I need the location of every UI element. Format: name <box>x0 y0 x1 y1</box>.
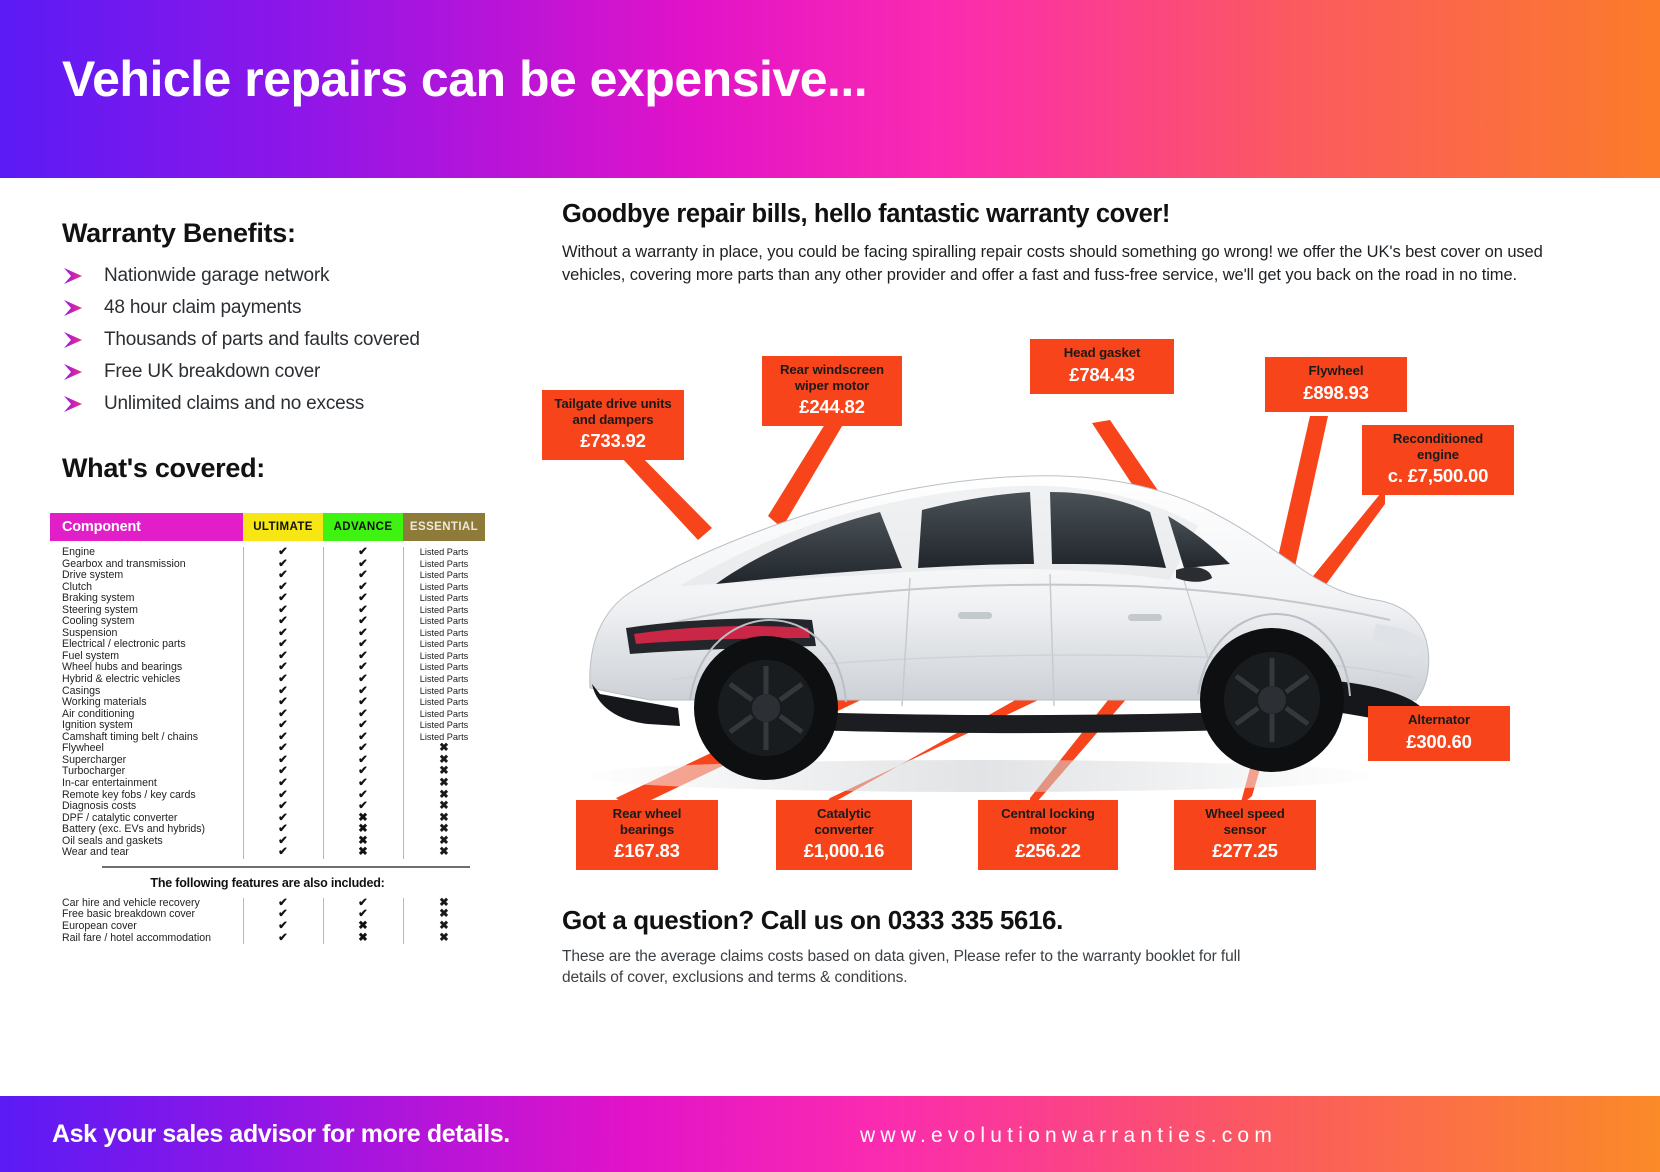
cell-ultimate: ✔ <box>243 921 323 933</box>
callout-label: Wheel speed sensor <box>1184 806 1306 837</box>
table-body: Engine✔✔Listed PartsGearbox and transmis… <box>50 547 485 859</box>
table-body-extras: Car hire and vehicle recovery✔✔✖Free bas… <box>50 898 485 944</box>
callout-label: Tailgate drive units and dampers <box>552 396 674 427</box>
chevron-right-icon <box>62 331 88 349</box>
chevron-right-icon <box>62 299 88 317</box>
cell-component-name: Battery (exc. EVs and hybrids) <box>50 824 243 836</box>
table-subheading: The following features are also included… <box>50 876 485 890</box>
callout-amount: £277.25 <box>1184 839 1306 862</box>
cell-advance: ✔ <box>323 697 403 709</box>
callout-label: Alternator <box>1378 712 1500 728</box>
cell-essential: Listed Parts <box>403 616 485 628</box>
cell-component-name: Hybrid & electric vehicles <box>50 674 243 686</box>
footer-website-url[interactable]: www.evolutionwarranties.com <box>860 1124 1277 1148</box>
callout-amount: c. £7,500.00 <box>1372 464 1504 487</box>
cell-ultimate: ✔ <box>243 824 323 836</box>
page-title: Vehicle repairs can be expensive... <box>62 50 867 108</box>
callout-label: Reconditioned engine <box>1372 431 1504 462</box>
table-row: European cover✔✖✖ <box>50 921 485 933</box>
column-header-advance: ADVANCE <box>323 513 403 541</box>
footer-bar: Ask your sales advisor for more details.… <box>0 1096 1660 1172</box>
benefits-list: Nationwide garage network 48 hour claim … <box>62 260 512 420</box>
table-row: Braking system✔✔Listed Parts <box>50 593 485 605</box>
cell-advance: ✔ <box>323 570 403 582</box>
callout-amount: £898.93 <box>1275 381 1397 404</box>
list-item: Nationwide garage network <box>62 260 512 292</box>
cell-essential: Listed Parts <box>403 674 485 686</box>
disclaimer-text: These are the average claims costs based… <box>562 946 1262 988</box>
cell-essential: ✖ <box>403 933 485 945</box>
coverage-table: Component ULTIMATE ADVANCE ESSENTIAL Eng… <box>50 513 485 944</box>
cell-essential: Listed Parts <box>403 547 485 559</box>
column-header-ultimate: ULTIMATE <box>243 513 323 541</box>
cell-component-name: Engine <box>50 547 243 559</box>
cell-component-name: Working materials <box>50 697 243 709</box>
left-column: Warranty Benefits: Nationwide garage net… <box>0 178 530 1078</box>
cell-component-name: European cover <box>50 921 243 933</box>
cell-component-name: In-car entertainment <box>50 778 243 790</box>
callout-rear-wiper: Rear windscreen wiper motor £244.82 <box>762 356 902 426</box>
callout-catalytic-converter: Catalytic converter £1,000.16 <box>776 800 912 870</box>
cell-essential: ✖ <box>403 847 485 859</box>
car-illustration <box>530 328 1660 848</box>
table-row: Hybrid & electric vehicles✔✔Listed Parts <box>50 674 485 686</box>
cell-essential: ✖ <box>403 778 485 790</box>
table-row: Working materials✔✔Listed Parts <box>50 697 485 709</box>
callout-alternator: Alternator £300.60 <box>1368 706 1510 761</box>
cell-ultimate: ✔ <box>243 570 323 582</box>
car-diagram: Tailgate drive units and dampers £733.92… <box>530 328 1660 848</box>
list-item: Free UK breakdown cover <box>62 356 512 388</box>
infographic-page: Vehicle repairs can be expensive... Warr… <box>0 0 1660 1172</box>
cell-advance: ✔ <box>323 593 403 605</box>
callout-label: Central locking motor <box>988 806 1108 837</box>
callout-head-gasket: Head gasket £784.43 <box>1030 339 1174 394</box>
cell-essential: ✖ <box>403 824 485 836</box>
table-header-row: Component ULTIMATE ADVANCE ESSENTIAL <box>50 513 485 541</box>
callout-rear-wheel-bearings: Rear wheel bearings £167.83 <box>576 800 718 870</box>
cell-advance: ✖ <box>323 921 403 933</box>
cell-advance: ✖ <box>323 847 403 859</box>
benefits-heading: Warranty Benefits: <box>62 218 296 249</box>
callout-amount: £244.82 <box>772 395 892 418</box>
cell-component-name: Braking system <box>50 593 243 605</box>
table-row: Diagnosis costs✔✔✖ <box>50 801 485 813</box>
footer-message: Ask your sales advisor for more details. <box>52 1120 510 1149</box>
benefit-label: Free UK breakdown cover <box>104 361 320 383</box>
chevron-right-icon <box>62 395 88 413</box>
call-to-action: Got a question? Call us on 0333 335 5616… <box>562 905 1063 936</box>
chevron-right-icon <box>62 363 88 381</box>
cell-advance: ✖ <box>323 933 403 945</box>
callout-label: Head gasket <box>1040 345 1164 361</box>
cell-ultimate: ✔ <box>243 547 323 559</box>
cell-essential: Listed Parts <box>403 570 485 582</box>
column-header-essential: ESSENTIAL <box>403 513 485 541</box>
callout-amount: £1,000.16 <box>786 839 902 862</box>
callout-reconditioned-engine: Reconditioned engine c. £7,500.00 <box>1362 425 1514 495</box>
cell-essential: Listed Parts <box>403 651 485 663</box>
cell-essential: Listed Parts <box>403 709 485 721</box>
cell-advance: ✖ <box>323 824 403 836</box>
callout-central-locking: Central locking motor £256.22 <box>978 800 1118 870</box>
list-item: Thousands of parts and faults covered <box>62 324 512 356</box>
cell-essential: Listed Parts <box>403 662 485 674</box>
right-column: Goodbye repair bills, hello fantastic wa… <box>530 178 1660 1078</box>
list-item: Unlimited claims and no excess <box>62 388 512 420</box>
cell-essential: Listed Parts <box>403 628 485 640</box>
chevron-right-icon <box>62 267 88 285</box>
cell-component-name: Ignition system <box>50 720 243 732</box>
cell-essential: Listed Parts <box>403 559 485 571</box>
cell-ultimate: ✔ <box>243 674 323 686</box>
callout-label: Rear wheel bearings <box>586 806 708 837</box>
table-row: Rail fare / hotel accommodation✔✖✖ <box>50 933 485 945</box>
table-row: Wear and tear✔✖✖ <box>50 847 485 859</box>
cell-essential: Listed Parts <box>403 720 485 732</box>
cell-ultimate: ✔ <box>243 778 323 790</box>
callout-label: Rear windscreen wiper motor <box>772 362 892 393</box>
callout-amount: £167.83 <box>586 839 708 862</box>
table-row: Engine✔✔Listed Parts <box>50 547 485 559</box>
right-paragraph: Without a warranty in place, you could b… <box>562 241 1547 287</box>
cell-component-name: Wear and tear <box>50 847 243 859</box>
benefit-label: Nationwide garage network <box>104 265 329 287</box>
callout-tailgate: Tailgate drive units and dampers £733.92 <box>542 390 684 460</box>
cell-essential: Listed Parts <box>403 639 485 651</box>
cell-advance: ✔ <box>323 801 403 813</box>
callout-flywheel: Flywheel £898.93 <box>1265 357 1407 412</box>
callout-amount: £733.92 <box>552 429 674 452</box>
callout-amount: £784.43 <box>1040 363 1164 386</box>
cell-essential: Listed Parts <box>403 697 485 709</box>
cell-ultimate: ✔ <box>243 801 323 813</box>
table-divider <box>102 866 470 868</box>
cell-ultimate: ✔ <box>243 593 323 605</box>
cell-advance: ✔ <box>323 547 403 559</box>
right-heading: Goodbye repair bills, hello fantastic wa… <box>562 200 1170 229</box>
benefit-label: 48 hour claim payments <box>104 297 301 319</box>
cell-advance: ✔ <box>323 778 403 790</box>
cell-essential: Listed Parts <box>403 593 485 605</box>
table-row: Drive system✔✔Listed Parts <box>50 570 485 582</box>
cell-essential: Listed Parts <box>403 686 485 698</box>
cell-ultimate: ✔ <box>243 697 323 709</box>
cell-component-name: Diagnosis costs <box>50 801 243 813</box>
cell-essential: Listed Parts <box>403 605 485 617</box>
benefit-label: Thousands of parts and faults covered <box>104 329 420 351</box>
cell-component-name: Drive system <box>50 570 243 582</box>
list-item: 48 hour claim payments <box>62 292 512 324</box>
callout-label: Flywheel <box>1275 363 1397 379</box>
cell-essential: Listed Parts <box>403 582 485 594</box>
callout-amount: £256.22 <box>988 839 1108 862</box>
column-header-component: Component <box>50 513 243 541</box>
callout-amount: £300.60 <box>1378 730 1500 753</box>
cell-advance: ✔ <box>323 720 403 732</box>
cell-ultimate: ✔ <box>243 847 323 859</box>
table-row: Battery (exc. EVs and hybrids)✔✖✖ <box>50 824 485 836</box>
callout-wheel-speed-sensor: Wheel speed sensor £277.25 <box>1174 800 1316 870</box>
cell-essential: ✖ <box>403 801 485 813</box>
table-row: Camshaft timing belt / chains✔✔Listed Pa… <box>50 732 485 744</box>
cell-advance: ✔ <box>323 674 403 686</box>
whats-covered-heading: What's covered: <box>62 453 265 484</box>
top-banner: Vehicle repairs can be expensive... <box>0 0 1660 178</box>
cell-ultimate: ✔ <box>243 720 323 732</box>
cell-component-name: Rail fare / hotel accommodation <box>50 933 243 945</box>
cell-ultimate: ✔ <box>243 933 323 945</box>
benefit-label: Unlimited claims and no excess <box>104 393 364 415</box>
table-row: In-car entertainment✔✔✖ <box>50 778 485 790</box>
cell-essential: ✖ <box>403 921 485 933</box>
callout-label: Catalytic converter <box>786 806 902 837</box>
